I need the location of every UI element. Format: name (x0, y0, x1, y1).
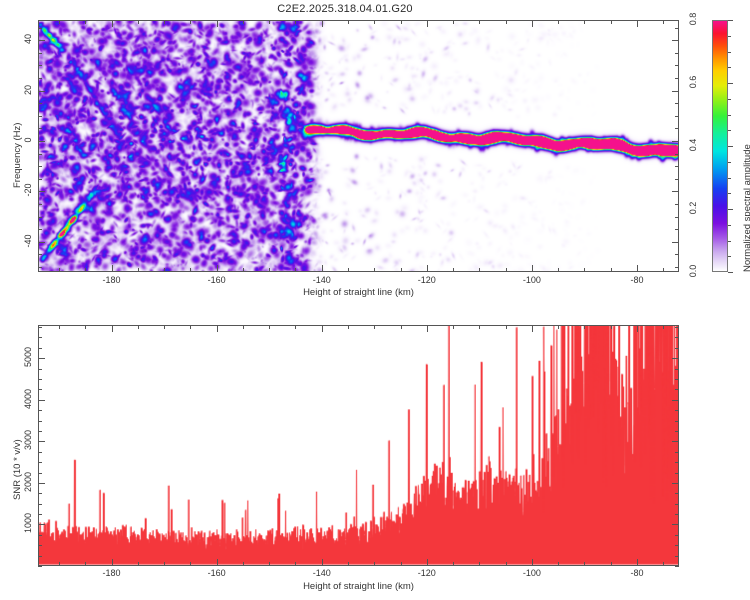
axis-tick (243, 268, 244, 272)
axis-tick (243, 325, 244, 329)
axis-tick (506, 268, 507, 272)
axis-tick (38, 462, 42, 463)
colorbar-tick-label: 0.6 (688, 69, 698, 95)
axis-tick (663, 325, 664, 329)
axis-tick (675, 421, 679, 422)
axis-tick (38, 103, 42, 104)
axis-tick (675, 535, 679, 536)
axis-tick (672, 91, 679, 92)
axis-tick (728, 36, 731, 37)
axis-tick-label: -180 (103, 568, 121, 578)
axis-tick-label: -80 (630, 568, 643, 578)
axis-tick (675, 545, 679, 546)
axis-tick (217, 559, 218, 566)
axis-tick (374, 20, 375, 24)
axis-tick (675, 337, 679, 338)
axis-tick (675, 504, 679, 505)
axis-tick (506, 20, 507, 24)
axis-tick (348, 20, 349, 24)
axis-tick-label: 40 (23, 24, 33, 54)
axis-tick (38, 431, 42, 432)
axis-tick (401, 325, 402, 329)
axis-tick (38, 493, 42, 494)
axis-tick (38, 40, 45, 41)
axis-tick (675, 154, 679, 155)
axis-tick-label: -140 (313, 568, 331, 578)
axis-tick (479, 268, 480, 272)
axis-tick (38, 154, 42, 155)
axis-tick (453, 325, 454, 329)
axis-tick (38, 483, 45, 484)
spectrogram-x-axis-label: Height of straight line (km) (38, 287, 679, 298)
axis-tick (59, 20, 60, 24)
axis-tick (672, 141, 679, 142)
axis-tick (269, 562, 270, 566)
axis-tick (138, 268, 139, 272)
axis-tick-label: 0 (23, 125, 33, 155)
axis-tick (243, 562, 244, 566)
colorbar-gradient (712, 20, 728, 272)
snr-y-axis-label: SNR (10 * v/v) (12, 439, 23, 500)
axis-tick (675, 78, 679, 79)
axis-tick (427, 325, 428, 332)
axis-tick (38, 267, 42, 268)
axis-tick (269, 20, 270, 24)
axis-tick (38, 514, 42, 515)
axis-tick (85, 20, 86, 24)
snr-panel (38, 325, 679, 566)
axis-tick (672, 191, 679, 192)
axis-tick-label: -140 (313, 275, 331, 285)
axis-tick (728, 146, 733, 147)
axis-tick (675, 473, 679, 474)
axis-tick-label: -120 (418, 275, 436, 285)
axis-tick (453, 562, 454, 566)
figure-title: C2E2.2025.318.04.01.G20 (0, 3, 690, 15)
colorbar-tick-label: 0.4 (688, 132, 698, 158)
axis-tick (38, 535, 42, 536)
axis-tick (675, 379, 679, 380)
axis-tick (374, 268, 375, 272)
axis-tick (728, 209, 733, 210)
axis-tick (675, 348, 679, 349)
axis-tick-label: 5000 (23, 342, 33, 372)
axis-tick (295, 562, 296, 566)
axis-tick (672, 524, 679, 525)
colorbar-tick-label: 0.2 (688, 195, 698, 221)
axis-tick (38, 441, 45, 442)
axis-tick (38, 337, 42, 338)
spectrogram-panel (38, 20, 679, 272)
axis-tick (728, 241, 731, 242)
axis-tick (675, 410, 679, 411)
axis-tick (675, 254, 679, 255)
snr-trace-canvas (39, 326, 678, 565)
axis-tick (85, 325, 86, 329)
axis-tick (190, 562, 191, 566)
axis-tick (427, 559, 428, 566)
axis-tick-label: -100 (523, 275, 541, 285)
axis-tick (663, 20, 664, 24)
axis-tick (675, 452, 679, 453)
axis-tick (164, 20, 165, 24)
axis-tick (675, 327, 679, 328)
axis-tick (38, 166, 42, 167)
axis-tick-label: 3000 (23, 425, 33, 455)
axis-tick (728, 20, 733, 21)
axis-tick (38, 400, 45, 401)
axis-tick (675, 462, 679, 463)
axis-tick (584, 268, 585, 272)
axis-tick (672, 441, 679, 442)
axis-tick-label: 2000 (23, 467, 33, 497)
axis-tick (38, 242, 45, 243)
axis-tick (322, 265, 323, 272)
axis-tick (479, 20, 480, 24)
axis-tick (663, 562, 664, 566)
axis-tick (59, 325, 60, 329)
axis-tick (190, 268, 191, 272)
axis-tick (427, 265, 428, 272)
axis-tick (38, 504, 42, 505)
axis-tick (38, 566, 42, 567)
axis-tick (672, 400, 679, 401)
axis-tick (675, 28, 679, 29)
axis-tick (59, 562, 60, 566)
axis-tick (728, 99, 731, 100)
axis-tick (427, 20, 428, 27)
axis-tick (675, 128, 679, 129)
axis-tick (38, 204, 42, 205)
axis-tick (38, 327, 42, 328)
axis-tick (675, 217, 679, 218)
axis-tick (584, 562, 585, 566)
axis-tick (38, 53, 42, 54)
colorbar (712, 20, 728, 272)
axis-tick (532, 559, 533, 566)
axis-tick (38, 369, 42, 370)
colorbar-axis-label: Normalized spectral amplitude (742, 144, 750, 272)
axis-tick (506, 562, 507, 566)
axis-tick (675, 179, 679, 180)
axis-tick (164, 268, 165, 272)
axis-tick (38, 254, 42, 255)
axis-tick (190, 20, 191, 24)
axis-tick (532, 265, 533, 272)
axis-tick (675, 514, 679, 515)
axis-tick (728, 52, 731, 53)
axis-tick (112, 559, 113, 566)
axis-tick-label: -20 (23, 175, 33, 205)
axis-tick (728, 115, 731, 116)
axis-tick (243, 20, 244, 24)
snr-x-axis-label: Height of straight line (km) (38, 581, 679, 592)
axis-tick (295, 268, 296, 272)
axis-tick (532, 325, 533, 332)
axis-tick (675, 53, 679, 54)
axis-tick (217, 325, 218, 332)
axis-tick (295, 325, 296, 329)
axis-tick (728, 162, 731, 163)
axis-tick (59, 268, 60, 272)
axis-tick (348, 325, 349, 329)
axis-tick (38, 179, 42, 180)
axis-tick (322, 325, 323, 332)
axis-tick (675, 229, 679, 230)
axis-tick (374, 562, 375, 566)
axis-tick (38, 78, 42, 79)
axis-tick (728, 178, 731, 179)
axis-tick (138, 562, 139, 566)
axis-tick (38, 452, 42, 453)
axis-tick (479, 562, 480, 566)
axis-tick (38, 524, 45, 525)
axis-tick (38, 141, 45, 142)
axis-tick (675, 566, 679, 567)
axis-tick (675, 116, 679, 117)
axis-tick (637, 559, 638, 566)
axis-tick (728, 193, 731, 194)
axis-tick (401, 562, 402, 566)
axis-tick (38, 91, 45, 92)
axis-tick (374, 325, 375, 329)
axis-tick (401, 268, 402, 272)
axis-tick (38, 128, 42, 129)
axis-tick (38, 28, 42, 29)
figure-root: C2E2.2025.318.04.01.G20 -180-160-140-120… (0, 0, 750, 600)
axis-tick (728, 130, 731, 131)
axis-tick (728, 67, 731, 68)
axis-tick (164, 562, 165, 566)
axis-tick (38, 358, 45, 359)
axis-tick (558, 325, 559, 329)
axis-tick (611, 268, 612, 272)
axis-tick (453, 20, 454, 24)
axis-tick (675, 556, 679, 557)
axis-tick (728, 256, 731, 257)
axis-tick (38, 65, 42, 66)
axis-tick (637, 325, 638, 332)
axis-tick (38, 421, 42, 422)
axis-tick (675, 389, 679, 390)
axis-tick (728, 83, 733, 84)
axis-tick (38, 229, 42, 230)
axis-tick (675, 65, 679, 66)
axis-tick (675, 493, 679, 494)
axis-tick (38, 473, 42, 474)
axis-tick (506, 325, 507, 329)
axis-tick (348, 268, 349, 272)
axis-tick (672, 358, 679, 359)
axis-tick (584, 20, 585, 24)
axis-tick (728, 272, 733, 273)
axis-tick (675, 204, 679, 205)
axis-tick (38, 348, 42, 349)
axis-tick-label: 1000 (23, 508, 33, 538)
axis-tick (85, 562, 86, 566)
axis-tick (38, 410, 42, 411)
axis-tick (672, 242, 679, 243)
axis-tick (322, 20, 323, 27)
axis-tick (675, 431, 679, 432)
axis-tick (38, 379, 42, 380)
colorbar-tick-label: 0.8 (688, 6, 698, 32)
axis-tick (322, 559, 323, 566)
axis-tick (138, 20, 139, 24)
spectrogram-y-axis-label: Frequency (Hz) (12, 123, 23, 188)
axis-tick-label: -180 (103, 275, 121, 285)
axis-tick (675, 369, 679, 370)
axis-tick (532, 20, 533, 27)
axis-tick-label: -100 (523, 568, 541, 578)
axis-tick (584, 325, 585, 329)
colorbar-tick-label: 0.0 (688, 258, 698, 284)
axis-tick (558, 268, 559, 272)
axis-tick-label: -120 (418, 568, 436, 578)
axis-tick (453, 268, 454, 272)
axis-tick (112, 20, 113, 27)
axis-tick (38, 545, 42, 546)
axis-tick (295, 20, 296, 24)
axis-tick (637, 20, 638, 27)
axis-tick (611, 562, 612, 566)
axis-tick (611, 20, 612, 24)
axis-tick (672, 40, 679, 41)
axis-tick (558, 20, 559, 24)
axis-tick (558, 562, 559, 566)
axis-tick (190, 325, 191, 329)
axis-tick (217, 265, 218, 272)
spectrogram-canvas (39, 21, 678, 271)
axis-tick (637, 265, 638, 272)
axis-tick (38, 116, 42, 117)
axis-tick (401, 20, 402, 24)
axis-tick (269, 268, 270, 272)
axis-tick (138, 325, 139, 329)
axis-tick-label: -160 (208, 568, 226, 578)
axis-tick (164, 325, 165, 329)
axis-tick (675, 267, 679, 268)
axis-tick (38, 217, 42, 218)
axis-tick-label: 20 (23, 75, 33, 105)
axis-tick-label: -160 (208, 275, 226, 285)
axis-tick (675, 166, 679, 167)
axis-tick (348, 562, 349, 566)
axis-tick (675, 103, 679, 104)
axis-tick-label: -80 (630, 275, 643, 285)
axis-tick (112, 325, 113, 332)
axis-tick (38, 556, 42, 557)
axis-tick (38, 389, 42, 390)
axis-tick (217, 20, 218, 27)
axis-tick-label: 4000 (23, 384, 33, 414)
axis-tick (479, 325, 480, 329)
axis-tick (663, 268, 664, 272)
axis-tick (269, 325, 270, 329)
axis-tick (672, 483, 679, 484)
axis-tick (728, 225, 731, 226)
axis-tick (38, 191, 45, 192)
axis-tick (85, 268, 86, 272)
axis-tick-label: -40 (23, 226, 33, 256)
axis-tick (112, 265, 113, 272)
axis-tick (611, 325, 612, 329)
